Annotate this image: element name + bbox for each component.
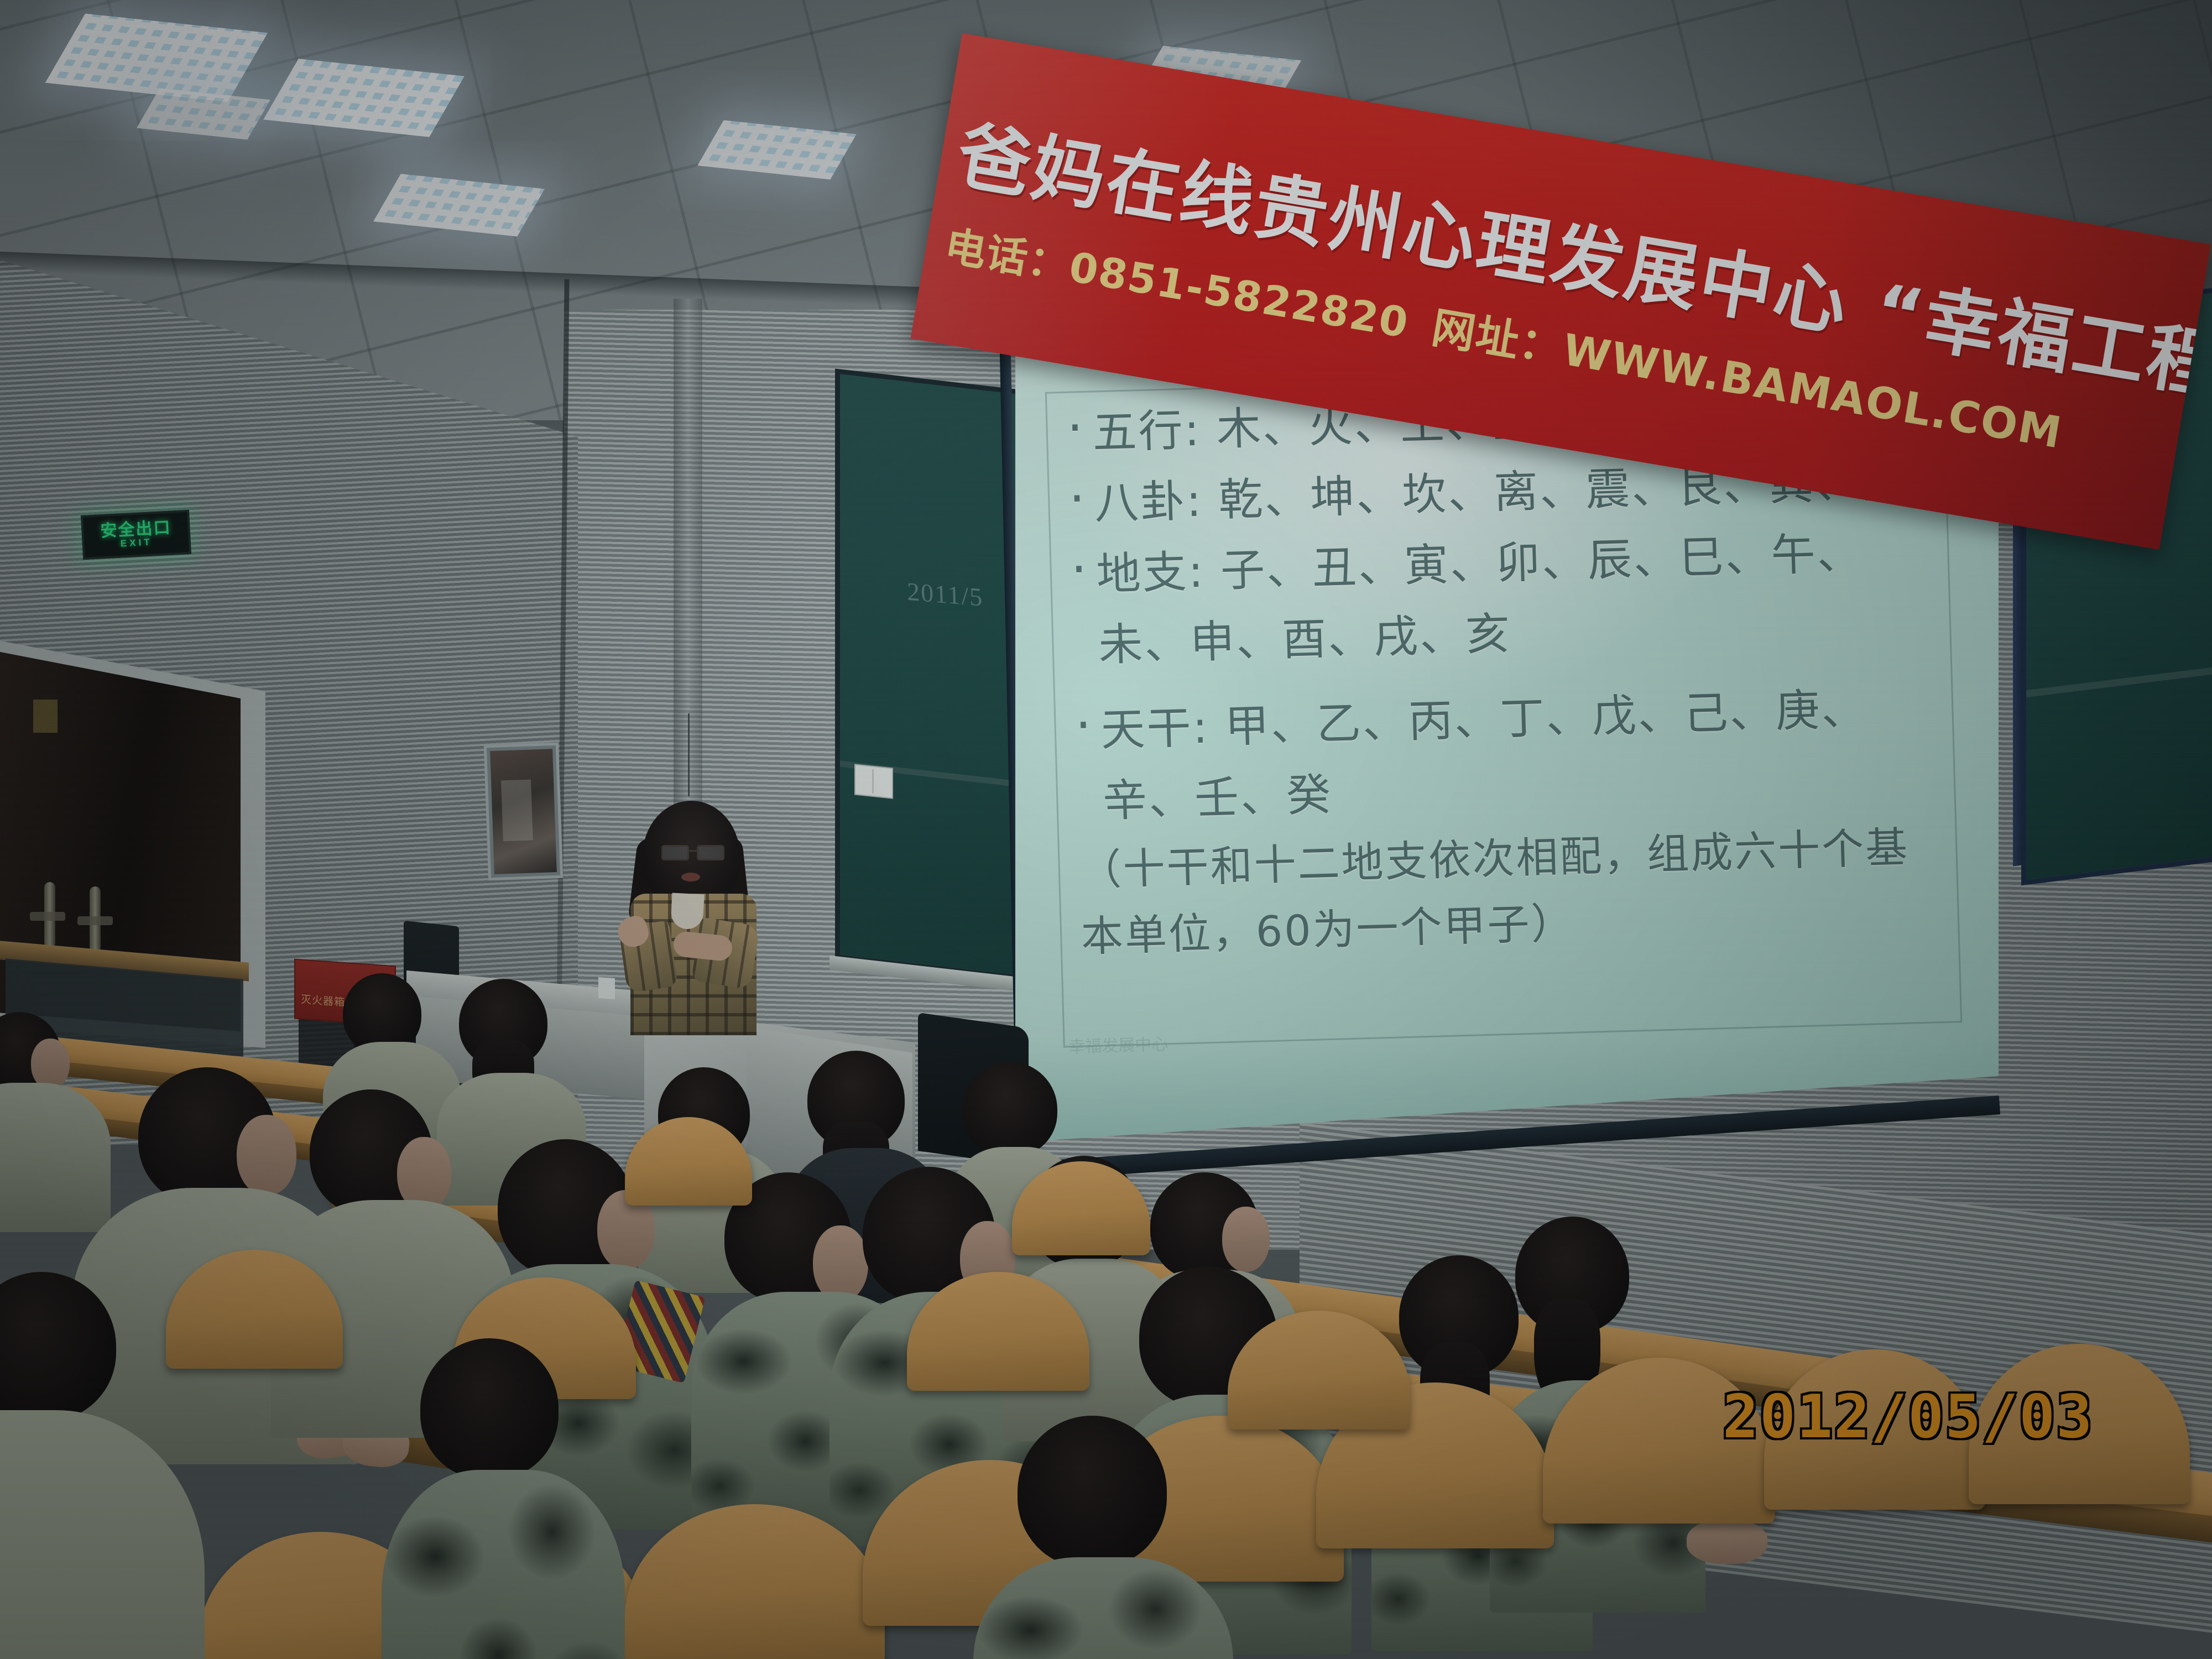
photograph-canvas: 安全出口 EXIT 灭火器箱 2011/5 五行: 木、火、土、金、水 <box>0 0 2212 1659</box>
camera-date-stamp: 2012/05/03 <box>1723 1383 2093 1452</box>
exit-sign-english-label: EXIT <box>120 537 153 549</box>
light-switch-plate[interactable] <box>854 764 893 799</box>
presenter-mouth <box>681 873 700 881</box>
presenter-glasses <box>660 845 726 857</box>
exit-sign: 安全出口 EXIT <box>81 510 191 560</box>
exit-sign-chinese-label: 安全出口 <box>100 520 171 540</box>
door-plate <box>30 912 65 921</box>
door-plate <box>77 916 113 925</box>
wall-notice-content <box>490 749 557 874</box>
presenter <box>603 785 785 1034</box>
doorway-reflection <box>33 700 58 733</box>
wall-notice-frame <box>484 743 563 881</box>
hanging-wire <box>688 713 690 796</box>
